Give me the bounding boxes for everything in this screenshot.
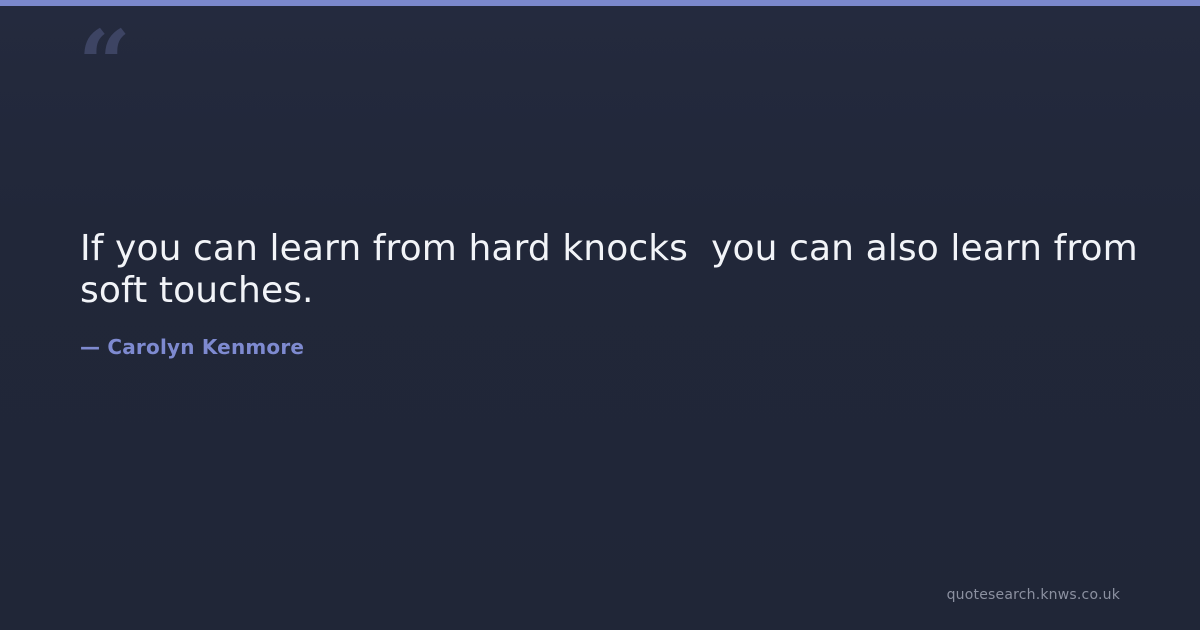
site-watermark: quotesearch.knws.co.uk <box>947 586 1120 604</box>
top-accent-bar <box>0 0 1200 6</box>
quote-card: “ If you can learn from hard knocks you … <box>0 0 1200 630</box>
quote-content: If you can learn from hard knocks you ca… <box>80 228 1140 360</box>
quote-text: If you can learn from hard knocks you ca… <box>80 228 1140 312</box>
quote-attribution: — Carolyn Kenmore <box>80 312 1140 360</box>
open-quotation-mark-icon: “ <box>78 18 129 110</box>
